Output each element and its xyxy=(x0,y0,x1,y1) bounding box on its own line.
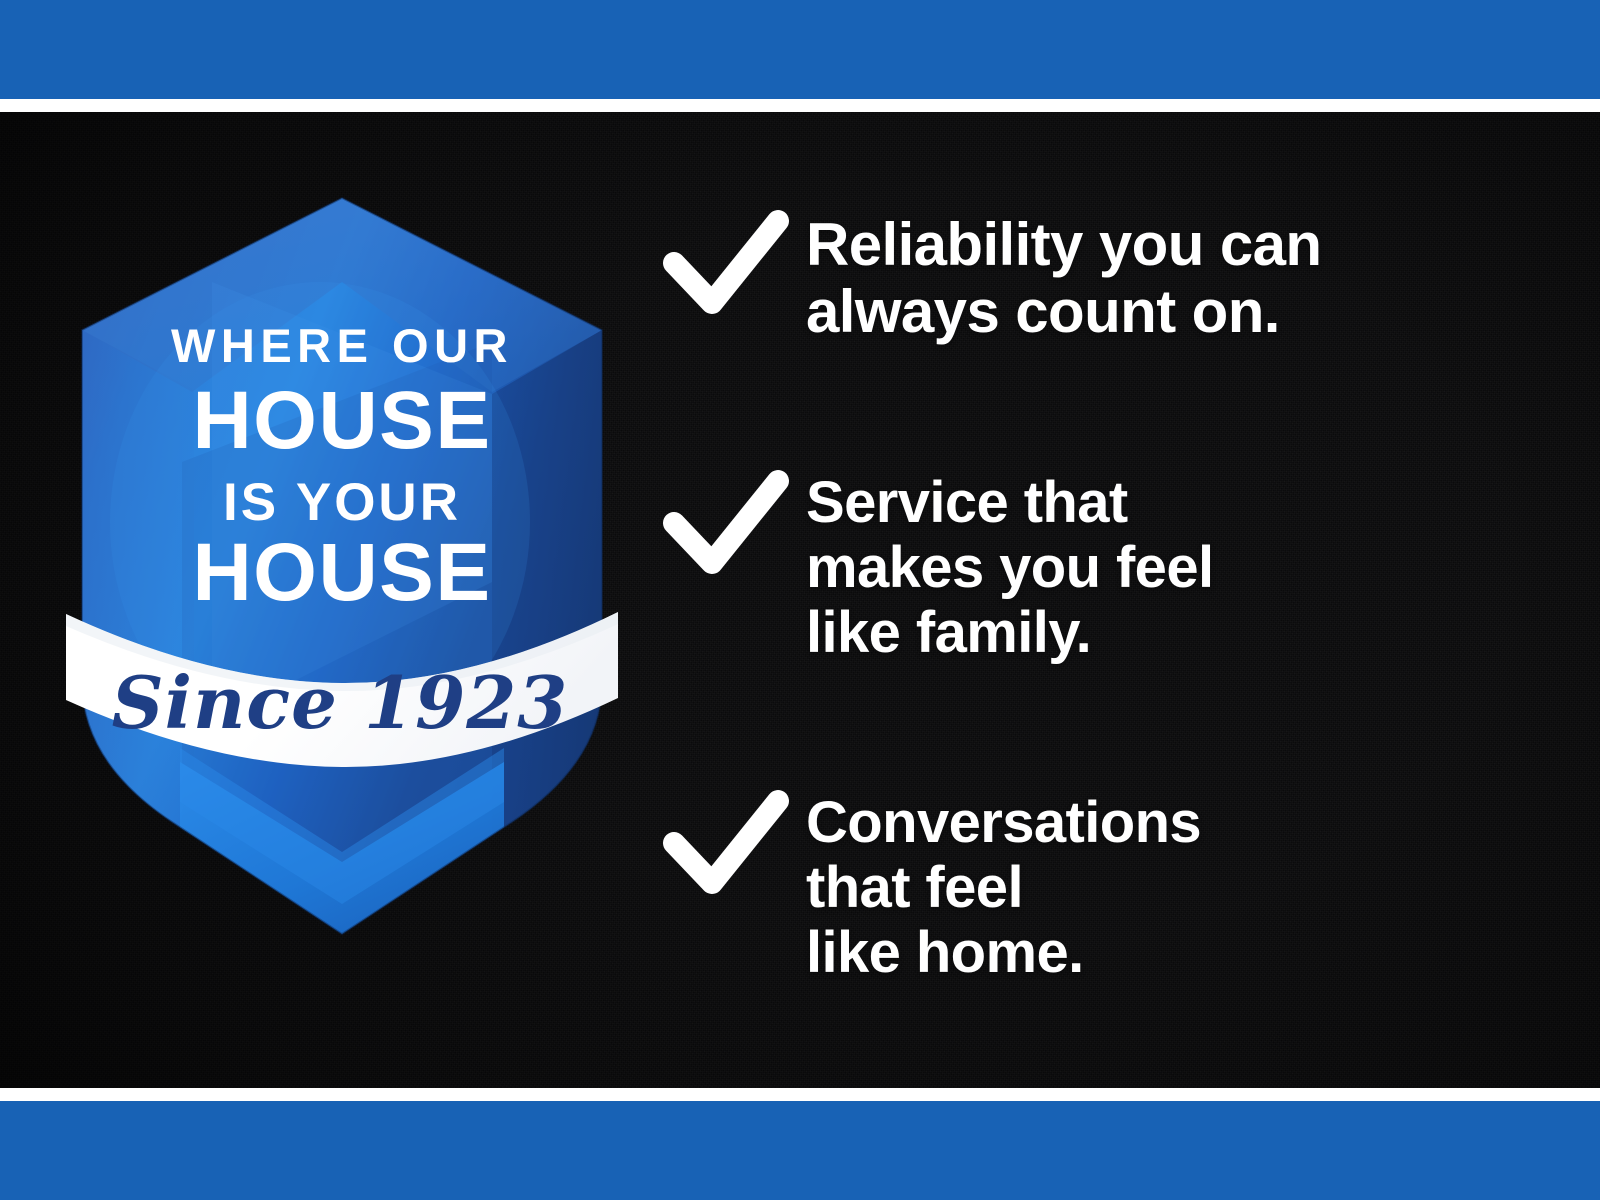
benefit-item-1: Reliability you can always count on. xyxy=(660,207,1321,345)
benefit-text-3: Conversations that feel like home. xyxy=(806,787,1201,986)
shield-line-1: WHERE OUR xyxy=(171,319,513,372)
top-accent-bar xyxy=(0,0,1600,99)
shield-badge: WHERE OUR HOUSE IS YOUR HOUSE Since 1923 xyxy=(62,162,622,862)
bottom-white-divider xyxy=(0,1088,1600,1101)
shield-line-3: IS YOUR xyxy=(223,473,461,532)
shield-line-2: HOUSE xyxy=(192,375,491,466)
benefit-item-2: Service that makes you feel like family. xyxy=(660,467,1213,666)
benefit-item-3: Conversations that feel like home. xyxy=(660,787,1201,986)
benefits-list: Reliability you can always count on. Ser… xyxy=(660,112,1560,1088)
shield-line-4: HOUSE xyxy=(192,527,491,618)
since-text: Since 1923 xyxy=(112,660,569,745)
bottom-accent-bar xyxy=(0,1101,1600,1200)
check-icon xyxy=(660,787,792,899)
promo-graphic: WHERE OUR HOUSE IS YOUR HOUSE Since 1923 xyxy=(0,0,1600,1200)
benefit-text-2: Service that makes you feel like family. xyxy=(806,467,1213,666)
benefit-text-1: Reliability you can always count on. xyxy=(806,207,1321,345)
check-icon xyxy=(660,467,792,579)
check-icon xyxy=(660,207,792,319)
top-white-divider xyxy=(0,99,1600,112)
